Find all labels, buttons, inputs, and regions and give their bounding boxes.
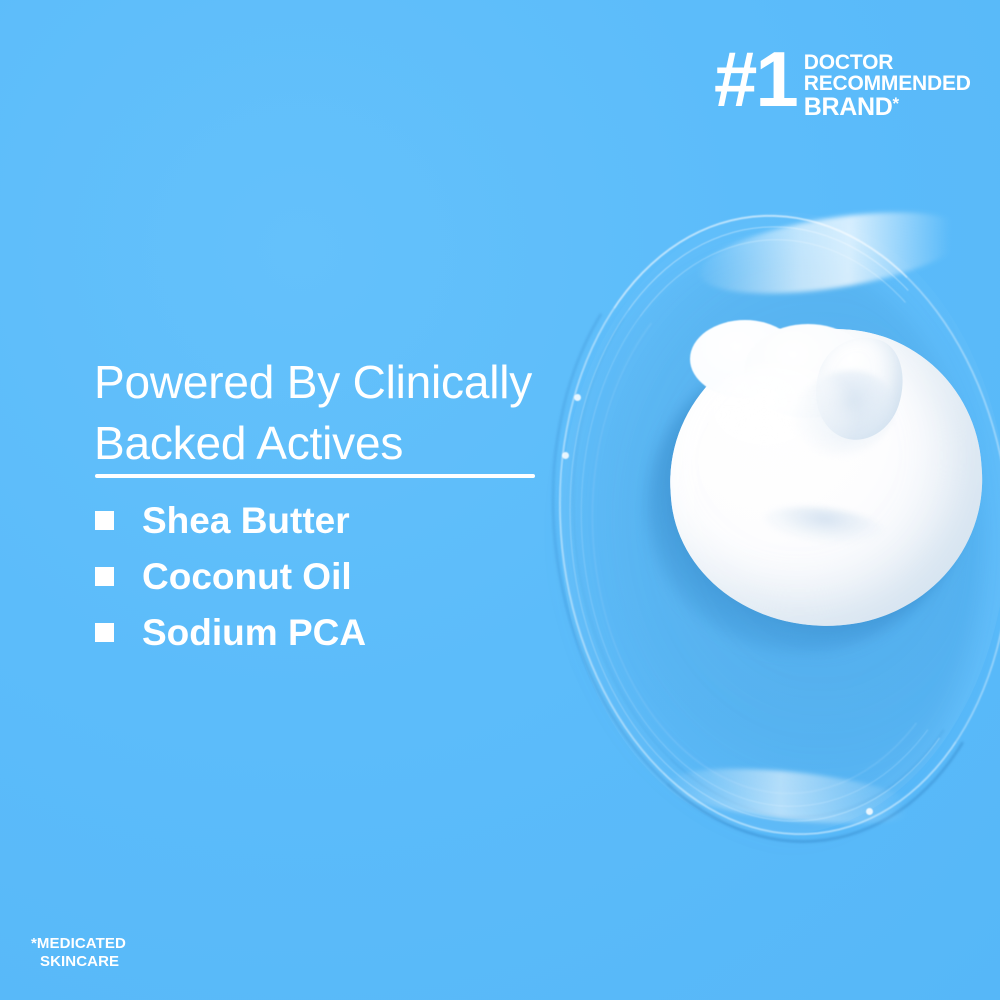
petri-dish-photo — [548, 212, 1000, 844]
dish-rim-glint-c — [866, 808, 873, 815]
page-title: Powered By Clinically Backed Actives — [94, 352, 564, 474]
title-divider — [95, 474, 535, 478]
square-bullet-icon — [95, 511, 114, 530]
product-marketing-image: #1 DOCTOR RECOMMENDED BRAND* Powered By … — [0, 0, 1000, 1000]
list-item: Shea Butter — [95, 492, 366, 548]
dish-rim-glint-a — [574, 394, 581, 401]
cream-dollop — [660, 319, 992, 636]
dish-rim-ring-1 — [529, 192, 1000, 858]
badge-asterisk: * — [893, 94, 899, 113]
badge-line-brand: BRAND* — [804, 95, 971, 121]
ingredient-list: Shea Butter Coconut Oil Sodium PCA — [95, 492, 366, 660]
dish-rim-highlight-top — [694, 197, 972, 308]
cream-bottom-crease — [763, 502, 886, 548]
dish-rim-ring-2 — [550, 212, 1000, 836]
list-item: Coconut Oil — [95, 548, 366, 604]
badge-line-doctor: DOCTOR — [804, 52, 971, 73]
cream-swirl-shading — [780, 356, 908, 473]
cream-highlight — [704, 362, 854, 472]
square-bullet-icon — [95, 567, 114, 586]
dish-refraction-arc-inner — [544, 210, 1000, 839]
doctor-recommended-badge: #1 DOCTOR RECOMMENDED BRAND* — [714, 46, 971, 120]
footnote-line-1: *MEDICATED — [31, 935, 126, 952]
cream-lobe-right — [744, 324, 872, 418]
badge-text-lines: DOCTOR RECOMMENDED BRAND* — [804, 52, 971, 120]
badge-line-recommended: RECOMMENDED — [804, 73, 971, 94]
cream-swirl-peak — [802, 325, 916, 450]
ingredient-label: Sodium PCA — [142, 614, 366, 651]
footnote-line-2: SKINCARE — [31, 953, 126, 970]
dish-rim-ring-4 — [583, 245, 986, 800]
dish-glass-body — [560, 212, 1000, 834]
footnote: *MEDICATED SKINCARE — [31, 935, 126, 970]
list-item: Sodium PCA — [95, 604, 366, 660]
dish-rim-ring-3 — [566, 229, 1000, 817]
dish-shadow — [554, 248, 984, 848]
badge-rank-number: #1 — [714, 48, 797, 112]
square-bullet-icon — [95, 623, 114, 642]
ingredient-label: Coconut Oil — [142, 558, 352, 595]
cream-shadow — [614, 318, 995, 686]
badge-brand-word: BRAND — [804, 93, 893, 121]
cream-lobe-left — [690, 320, 800, 398]
dish-refraction-arc-outer — [512, 183, 1000, 872]
ingredient-label: Shea Butter — [142, 502, 350, 539]
dish-rim-highlight-bottom — [666, 759, 920, 833]
